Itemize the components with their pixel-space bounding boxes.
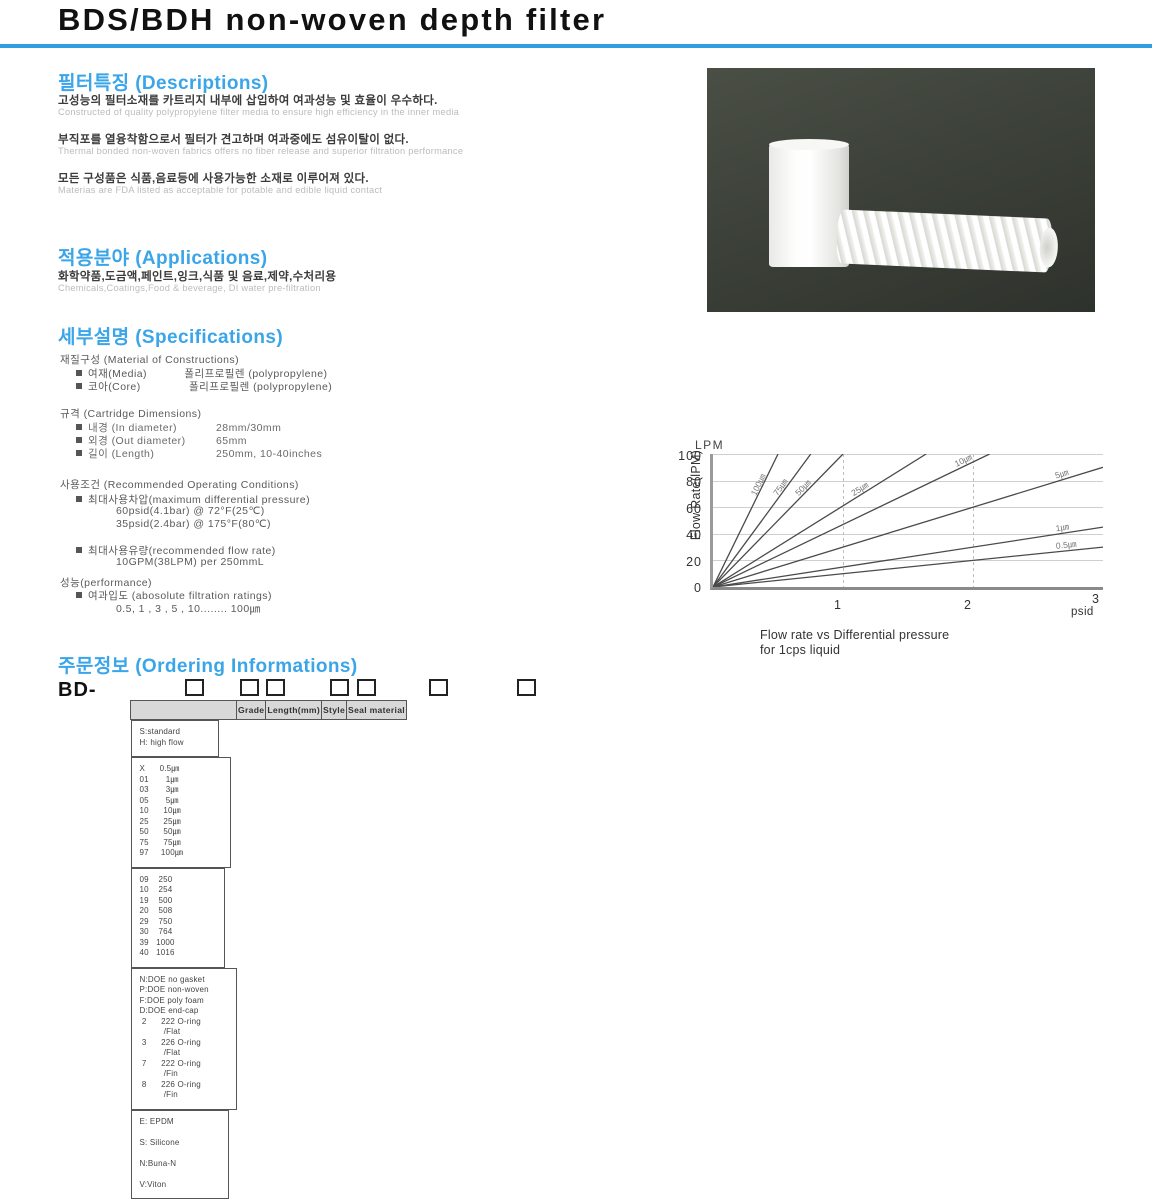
series-label-75㎛: 75㎛ xyxy=(771,477,791,498)
order-checkbox-grade-2[interactable] xyxy=(266,679,285,696)
y-tick-60: 60 xyxy=(668,502,702,516)
chart-caption: Flow rate vs Differential pressure for 1… xyxy=(760,628,1120,658)
square-bullet-icon xyxy=(76,370,82,376)
flow-value: 10GPM(38LPM) per 250mmL xyxy=(116,556,264,568)
specifications-heading: 세부설명 (Specifications) xyxy=(58,322,283,349)
square-bullet-icon xyxy=(76,450,82,456)
operating-title: 사용조건 (Recommended Operating Conditions) xyxy=(60,477,299,492)
chart-series-svg: 100㎛75㎛50㎛25㎛10㎛5㎛1㎛0.5㎛ xyxy=(713,454,1103,587)
series-line-0.5㎛ xyxy=(713,547,1103,587)
material-row-core: 코아(Core) 폴리프로필렌 (polypropylene) xyxy=(76,379,332,394)
material-core-value: 폴리프로필렌 (polypropylene) xyxy=(189,381,332,393)
order-checkbox-seal[interactable] xyxy=(517,679,536,696)
description-en-1: Constructed of quality polypropylene fil… xyxy=(58,107,459,117)
table-header-row: Grade Length(mm) Style Seal material xyxy=(131,701,407,720)
chart-plot-area: 100㎛75㎛50㎛25㎛10㎛5㎛1㎛0.5㎛ xyxy=(710,454,1103,590)
dimension-length-label: 길이 (Length) xyxy=(88,446,216,461)
page-title: BDS/BDH non-woven depth filter xyxy=(58,2,606,38)
x-tick-2: 2 xyxy=(964,598,971,612)
description-kr-1: 고성능의 필터소재를 카트리지 내부에 삽입하여 여과성능 및 효율이 우수하다… xyxy=(58,92,438,108)
cell-style: N:DOE no gasket P:DOE non-woven F:DOE po… xyxy=(131,968,237,1110)
order-code-prefix: BD- xyxy=(58,679,97,702)
description-en-2: Thermal bonded non-woven fabrics offers … xyxy=(58,146,463,156)
y-tick-40: 40 xyxy=(668,528,702,542)
square-bullet-icon xyxy=(76,383,82,389)
applications-kr: 화학약품,도금액,페인트,잉크,식품 및 음료,제약,수처리용 xyxy=(58,268,336,284)
table-row: S:standard H: high flow X 0.5㎛ 01 1㎛ 03 … xyxy=(131,720,407,1199)
y-tick-20: 20 xyxy=(668,555,702,569)
col-header-grade: Grade xyxy=(237,701,266,720)
datasheet-page: BDS/BDH non-woven depth filter 필터특징 (Des… xyxy=(0,0,1152,824)
title-divider xyxy=(0,44,1152,48)
square-bullet-icon xyxy=(76,437,82,443)
ordering-table: Grade Length(mm) Style Seal material S:s… xyxy=(130,700,407,1199)
x-tick-3: 3 xyxy=(1092,592,1099,606)
applications-heading: 적용분야 (Applications) xyxy=(58,243,267,270)
series-label-100㎛: 100㎛ xyxy=(749,472,769,498)
order-checkbox-grade-1[interactable] xyxy=(240,679,259,696)
col-header-type xyxy=(131,701,237,720)
order-checkbox-length-1[interactable] xyxy=(330,679,349,696)
col-header-style: Style xyxy=(322,701,347,720)
col-header-length: Length(mm) xyxy=(266,701,322,720)
chart-caption-line-1: Flow rate vs Differential pressure xyxy=(760,628,1120,643)
series-line-1㎛ xyxy=(713,527,1103,587)
cell-length: 09 250 10 254 19 500 20 508 29 750 30 76… xyxy=(131,868,225,968)
dimensions-group-title: 규격 (Cartridge Dimensions) xyxy=(60,406,201,421)
square-bullet-icon xyxy=(76,424,82,430)
rating-value: 0.5, 1 , 3 , 5 , 10........ 100㎛ xyxy=(116,601,261,616)
dimension-row-length: 길이 (Length)250mm, 10-40inches xyxy=(76,446,322,461)
order-checkbox-type[interactable] xyxy=(185,679,204,696)
square-bullet-icon xyxy=(76,592,82,598)
col-header-seal: Seal material xyxy=(347,701,407,720)
cell-seal: E: EPDM S: Silicone N:Buna-N V:Viton xyxy=(131,1110,229,1199)
chart-caption-line-2: for 1cps liquid xyxy=(760,643,1120,658)
description-kr-2: 부직포를 열융착함으로서 필터가 견고하며 여과중에도 섬유이탈이 없다. xyxy=(58,131,409,147)
cell-grade: X 0.5㎛ 01 1㎛ 03 3㎛ 05 5㎛ 10 10㎛ 25 25㎛ 5… xyxy=(131,757,231,868)
applications-en: Chemicals,Coatings,Food & beverage, DI w… xyxy=(58,283,321,293)
square-bullet-icon xyxy=(76,547,82,553)
square-bullet-icon xyxy=(76,496,82,502)
max-dp-line-1: 60psid(4.1bar) @ 72°F(25℃) xyxy=(116,505,265,517)
description-en-3: Materias are FDA listed as acceptable fo… xyxy=(58,185,382,195)
max-dp-line-2: 35psid(2.4bar) @ 175°F(80℃) xyxy=(116,518,271,530)
series-line-10㎛ xyxy=(713,454,990,587)
y-tick-0: 0 xyxy=(668,581,702,595)
order-checkbox-style[interactable] xyxy=(429,679,448,696)
description-kr-3: 모든 구성품은 식품,음료등에 사용가능한 소재로 이루어져 있다. xyxy=(58,170,369,186)
descriptions-heading: 필터특징 (Descriptions) xyxy=(58,68,269,95)
filter-cartridge-lying xyxy=(836,209,1053,272)
dimension-length-value: 250mm, 10-40inches xyxy=(216,448,322,460)
series-label-10㎛: 10㎛ xyxy=(953,454,974,470)
product-photo xyxy=(707,68,1095,312)
material-group-title: 재질구성 (Material of Constructions) xyxy=(60,352,239,367)
cell-type: S:standard H: high flow xyxy=(131,720,219,757)
ordering-heading: 주문정보 (Ordering Informations) xyxy=(58,651,358,678)
order-checkbox-length-2[interactable] xyxy=(357,679,376,696)
flow-rate-chart: LPM Flow Rate(lPM) 100 80 60 40 20 0 100… xyxy=(662,440,1132,660)
y-tick-100: 100 xyxy=(668,449,702,463)
x-tick-1: 1 xyxy=(834,598,841,612)
chart-x-axis-label: psid xyxy=(1071,606,1094,618)
material-core-label: 코아(Core) xyxy=(88,381,141,393)
y-tick-80: 80 xyxy=(668,475,702,489)
